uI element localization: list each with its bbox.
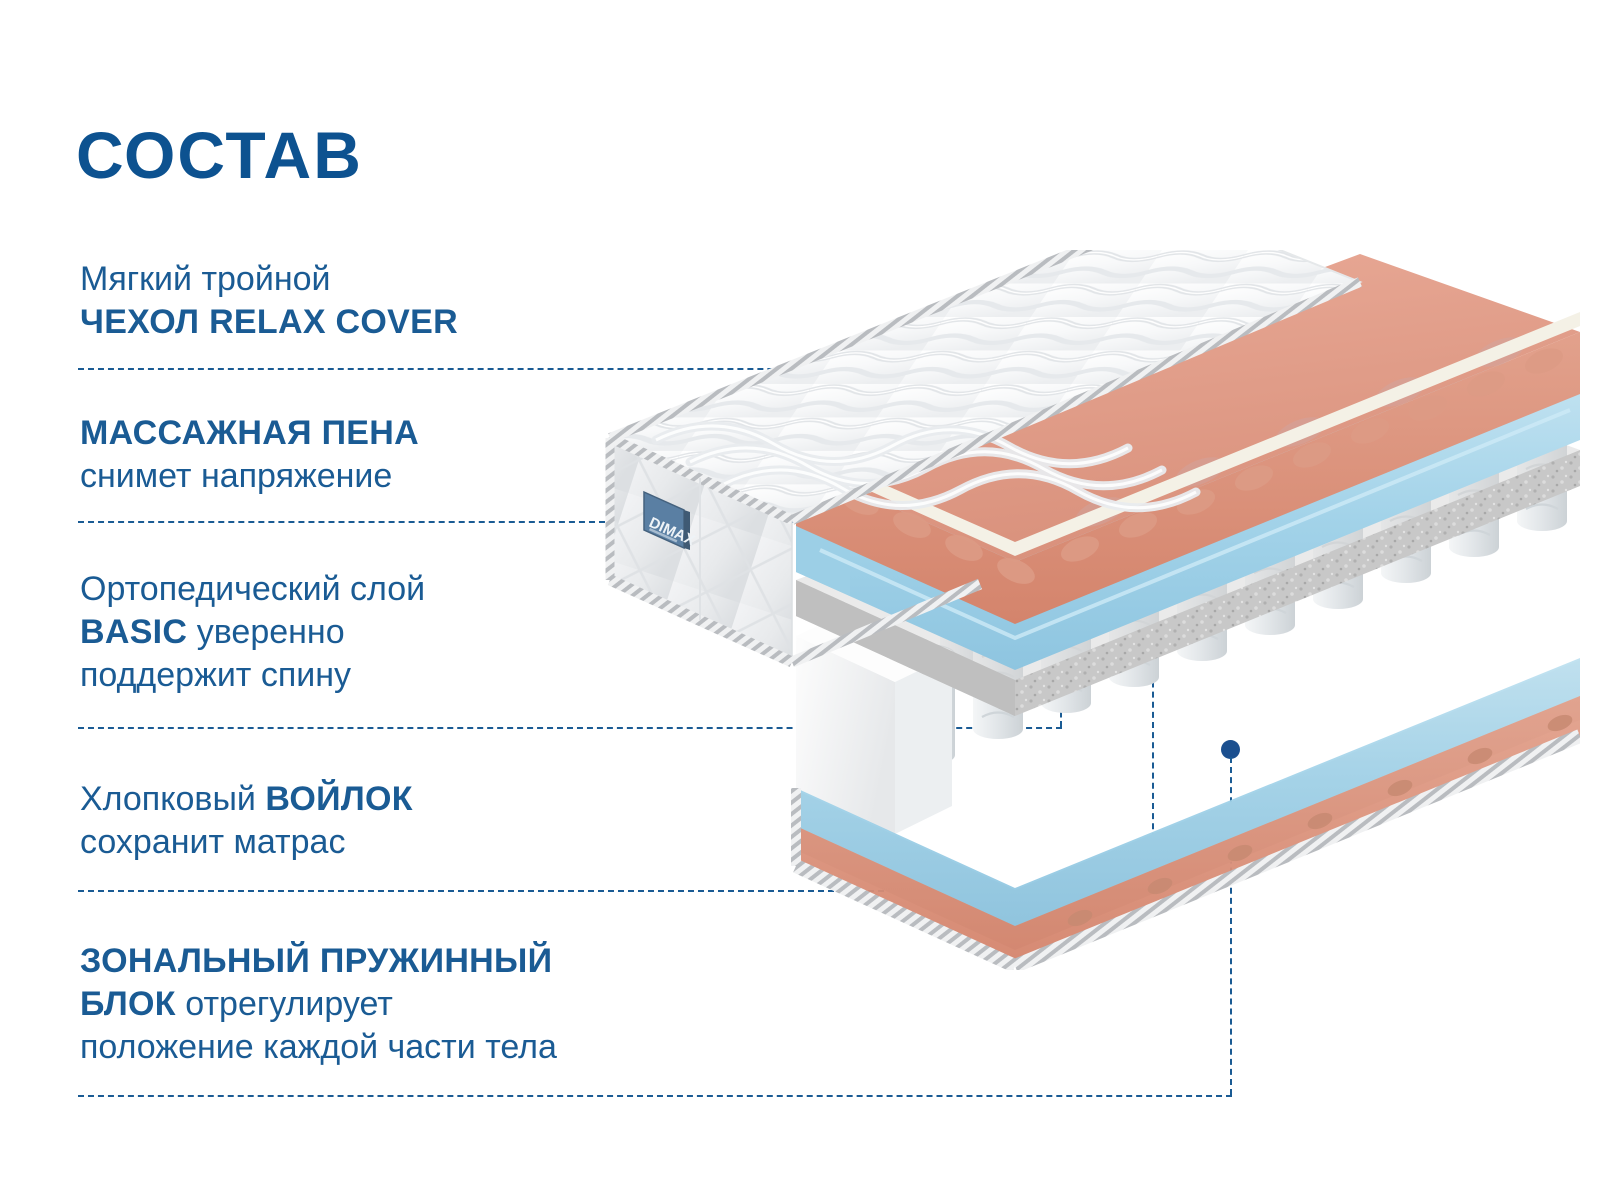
- callout-text-spring-block: ЗОНАЛЬНЫЙ ПРУЖИННЫЙ БЛОК отрегулирует по…: [80, 940, 557, 1070]
- infographic-canvas: СОСТАВ Мягкий тройной ЧЕХОЛ RELAX COVER …: [0, 0, 1600, 1200]
- callout-springs-keyword: БЛОК: [80, 985, 176, 1023]
- callout-felt-line1-prefix: Хлопковый: [80, 780, 265, 818]
- callout-cover-line1: Мягкий тройной: [80, 258, 458, 301]
- callout-springs-line3: положение каждой части тела: [80, 1026, 557, 1069]
- leader-line-springs-horizontal: [78, 1095, 1232, 1097]
- callout-foam-line1: МАССАЖНАЯ ПЕНА: [80, 412, 419, 455]
- callout-basic-line3: поддержит спину: [80, 654, 425, 697]
- callout-felt-line2: сохранит матрас: [80, 821, 413, 864]
- callout-springs-line2-rest: отрегулирует: [176, 985, 393, 1023]
- callout-text-massage-foam: МАССАЖНАЯ ПЕНА снимет напряжение: [80, 412, 419, 498]
- callout-text-cotton-felt: Хлопковый ВОЙЛОК сохранит матрас: [80, 778, 413, 864]
- callout-foam-line2: снимет напряжение: [80, 455, 419, 498]
- callout-springs-line1: ЗОНАЛЬНЫЙ ПРУЖИННЫЙ: [80, 940, 557, 983]
- callout-basic-line1: Ортопедический слой: [80, 568, 425, 611]
- mattress-cutaway-illustration: DIMAX: [560, 250, 1580, 970]
- callout-basic-line2-rest: уверенно: [187, 613, 344, 651]
- page-title: СОСТАВ: [76, 122, 363, 188]
- callout-cover-line2: ЧЕХОЛ RELAX COVER: [80, 301, 458, 344]
- callout-text-relax-cover: Мягкий тройной ЧЕХОЛ RELAX COVER: [80, 258, 458, 344]
- callout-felt-keyword: ВОЙЛОК: [265, 780, 412, 818]
- callout-text-basic-layer: Ортопедический слой BASIC уверенно подде…: [80, 568, 425, 698]
- callout-basic-keyword: BASIC: [80, 613, 187, 651]
